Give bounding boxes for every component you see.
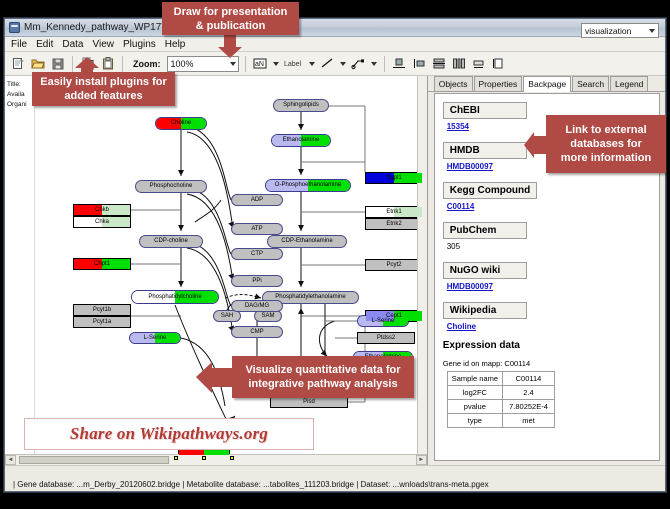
callout-line-1: Link to external — [565, 123, 646, 137]
menu-item-plugins[interactable]: Plugins — [123, 39, 156, 50]
callout-arrow-links — [524, 132, 548, 158]
status-divider — [5, 466, 665, 477]
callout-line-2: added features — [64, 89, 142, 103]
expression-data-heading: Expression data — [443, 340, 659, 351]
tab-objects[interactable]: Objects — [434, 76, 473, 91]
tab-properties[interactable]: Properties — [474, 76, 523, 91]
zoom-label: Zoom: — [133, 59, 161, 69]
visualization-value: visualization — [585, 26, 631, 36]
tab-search[interactable]: Search — [572, 76, 609, 91]
chevron-down-icon — [230, 62, 236, 66]
scroll-right-arrow[interactable]: ► — [416, 455, 427, 465]
node-label: CDP-Ethanolamine — [279, 238, 334, 244]
node-label: Chpt1 — [92, 261, 112, 267]
interaction-icon[interactable] — [350, 55, 367, 73]
callout-line-3: more information — [561, 151, 651, 165]
cell-value: met — [503, 414, 555, 428]
screenshot-root: Mm_Kennedy_pathway_WP1771_45176.gpml Fil… — [0, 0, 670, 509]
pathway-node-l-serine-left[interactable]: L-Serine — [129, 332, 181, 344]
db-value-pubchem: 305 — [447, 242, 659, 251]
svg-text:Label: Label — [284, 61, 302, 68]
interaction-dropdown[interactable] — [370, 62, 378, 66]
pathway-node-ctp[interactable]: CTP — [231, 248, 283, 260]
pathway-gene-chpt1[interactable]: Chpt1 — [73, 258, 131, 270]
db-link-kegg[interactable]: C00114 — [447, 202, 659, 211]
stack-center-icon[interactable] — [431, 55, 448, 73]
pathway-gene-pcyt2[interactable]: Pcyt2 — [365, 259, 423, 271]
table-row: type met — [447, 414, 554, 428]
datanode-icon[interactable]: aN — [252, 55, 269, 73]
callout-external-links: Link to external databases for more info… — [546, 115, 666, 173]
node-label: Sphingolipids — [281, 102, 321, 108]
align-left-icon[interactable] — [411, 55, 428, 73]
pathway-info-strip: Title: Availa Organi — [5, 76, 35, 465]
pathway-gene-sgpl1[interactable]: Sgpl1 — [365, 172, 423, 184]
db-header-hmdb: HMDB — [443, 142, 527, 159]
node-label: SAH — [219, 313, 235, 319]
db-header-wikipedia: Wikipedia — [443, 302, 527, 319]
callout-draw-for-publication: Draw for presentation & publication — [162, 2, 299, 35]
cell-key: log2FC — [447, 386, 502, 400]
node-label: Pisd — [301, 399, 317, 405]
node-label: SAM — [259, 313, 276, 319]
node-label: Chka — [93, 219, 111, 225]
node-label: DAG/MG — [243, 303, 271, 309]
callout-line-1: Visualize quantitative data for — [245, 363, 400, 377]
table-row: pvalue 7.80252E-4 — [447, 400, 554, 414]
callout-visualize-data: Visualize quantitative data for integrat… — [232, 356, 414, 398]
pathway-node-cdp-ethanolamine[interactable]: CDP-Ethanolamine — [267, 235, 347, 248]
paste-icon[interactable] — [99, 55, 116, 73]
db-link-nugo[interactable]: HMDB00097 — [447, 282, 659, 291]
cell-value: 2.4 — [503, 386, 555, 400]
db-header-pubchem: PubChem — [443, 222, 527, 239]
cell-value: C00114 — [503, 372, 555, 386]
pathway-node-o-phosphoethanolamine[interactable]: O-Phosphoethanolamine — [265, 179, 351, 192]
db-header-kegg: Kegg Compound — [443, 182, 538, 199]
pathway-node-phosphocholine[interactable]: Phosphocholine — [135, 180, 207, 193]
pathway-node-adp[interactable]: ADP — [231, 194, 283, 206]
node-label: O-Phosphoethanolamine — [273, 182, 343, 188]
menu-item-data[interactable]: Data — [62, 39, 83, 50]
node-label: Pcyt2 — [384, 262, 403, 268]
node-label: Pcyt1a — [91, 319, 113, 325]
visualization-select[interactable]: visualization — [581, 23, 659, 38]
callout-arrow-visualize — [196, 360, 234, 394]
status-bar: | Gene database: ...m_Derby_20120602.bri… — [5, 465, 665, 491]
datanode-dropdown[interactable] — [272, 62, 280, 66]
node-label: Etnk2 — [384, 221, 403, 227]
open-file-icon[interactable] — [29, 55, 46, 73]
callout-share-wikipathways: Share on Wikipathways.org — [24, 418, 314, 450]
cell-key: pvalue — [447, 400, 502, 414]
cell-value: 7.80252E-4 — [503, 400, 555, 414]
cell-key: Sample name — [447, 372, 502, 386]
menu-bar: File Edit Data View Plugins Help — [5, 37, 665, 52]
line-icon[interactable] — [319, 55, 336, 73]
node-label: Chkb — [93, 207, 111, 213]
common-height-icon[interactable] — [491, 55, 508, 73]
callout-line-2: databases for — [570, 137, 642, 151]
side-panel-tabs: Objects Properties Backpage Search Legen… — [428, 76, 665, 92]
pathway-node-sphingolipids[interactable]: Sphingolipids — [273, 99, 329, 112]
common-width-icon[interactable] — [471, 55, 488, 73]
save-file-icon[interactable] — [49, 55, 66, 73]
pathway-node-ppi[interactable]: PPi — [231, 275, 283, 287]
node-label: Pcyt1b — [91, 307, 113, 313]
distribute-icon[interactable] — [451, 55, 468, 73]
node-label: Phosphatidylethanolamine — [273, 294, 347, 300]
table-row: Sample name C00114 — [447, 372, 554, 386]
callout-line-2: & publication — [196, 19, 266, 33]
node-label: ATP — [249, 226, 264, 232]
node-label: Sgpl1 — [384, 175, 403, 181]
table-row: log2FC 2.4 — [447, 386, 554, 400]
node-label: Choline — [169, 120, 193, 126]
pathway-node-atp[interactable]: ATP — [231, 223, 283, 235]
node-label: CMP — [248, 329, 265, 335]
info-title-label: Title: — [7, 80, 32, 90]
expression-table: Sample name C00114 log2FC 2.4 pvalue 7.8… — [447, 371, 555, 428]
node-label: L-Serine — [142, 335, 169, 341]
pathway-app-icon — [9, 22, 20, 33]
db-header-chebi: ChEBI — [443, 102, 527, 119]
node-label: Etnk1 — [384, 209, 403, 215]
info-organism-label: Organi — [7, 100, 32, 110]
zoom-value: 100% — [171, 59, 194, 69]
callout-arrow-draw — [216, 33, 244, 59]
pathway-gene-etnk1[interactable]: Etnk1 — [365, 206, 423, 218]
node-label: Ethanolamine — [281, 137, 322, 143]
pathway-gene-chkb[interactable]: Chkb — [73, 204, 131, 216]
pathway-gene-pcyt1b[interactable]: Pcyt1b — [73, 304, 131, 316]
pathway-gene-ptdss2[interactable]: Ptdss2 — [357, 332, 415, 344]
info-available-label: Availa — [7, 90, 32, 100]
line-dropdown[interactable] — [339, 62, 347, 66]
pathway-canvas[interactable]: Choline Sphingolipids Ethanolamine Phosp… — [35, 76, 427, 465]
pathway-node-cmp[interactable]: CMP — [231, 326, 283, 338]
node-label: Phosphatidylcholine — [146, 294, 203, 300]
menu-item-help[interactable]: Help — [165, 39, 186, 50]
chevron-down-icon — [649, 29, 655, 33]
canvas-horizontal-scrollbar[interactable]: ◄ ► — [5, 454, 427, 465]
title-bar: Mm_Kennedy_pathway_WP1771_45176.gpml — [5, 19, 665, 37]
pathway-editor-pane: Title: Availa Organi — [5, 76, 428, 465]
pathway-gene-etnk2[interactable]: Etnk2 — [365, 218, 423, 230]
node-label: PPi — [250, 278, 263, 284]
node-label: Cept1 — [384, 313, 404, 319]
callout-line-2: integrative pathway analysis — [248, 377, 397, 391]
cell-key: type — [447, 414, 502, 428]
share-text: Share on Wikipathways.org — [70, 424, 268, 444]
node-label: ADP — [249, 197, 265, 203]
menu-item-view[interactable]: View — [92, 39, 114, 50]
db-header-nugo: NuGO wiki — [443, 262, 527, 279]
node-label: CDP-choline — [152, 238, 190, 244]
pathway-node-cdp-choline[interactable]: CDP-choline — [139, 235, 203, 248]
pathway-node-choline-top[interactable]: Choline — [155, 117, 207, 130]
callout-line-1: Easily install plugins for — [40, 75, 167, 89]
node-label: Phosphocholine — [148, 183, 195, 189]
canvas-vertical-scrollbar[interactable] — [417, 76, 427, 454]
tab-backpage[interactable]: Backpage — [523, 76, 571, 92]
pathway-gene-pcyt1a[interactable]: Pcyt1a — [73, 316, 131, 328]
new-file-icon[interactable] — [9, 55, 26, 73]
menu-item-edit[interactable]: Edit — [36, 39, 53, 50]
menu-item-file[interactable]: File — [11, 39, 27, 50]
gene-id-line: Gene id on mapp: C00114 — [443, 359, 659, 368]
node-label: CTP — [249, 251, 265, 257]
pathway-node-phosphatidylcholine[interactable]: Phosphatidylcholine — [131, 290, 219, 304]
pathway-gene-chka[interactable]: Chka — [73, 216, 131, 228]
label-dropdown[interactable] — [308, 62, 316, 66]
node-label: Ptdss2 — [375, 335, 397, 341]
pathway-node-dagmg[interactable]: DAG/MG — [231, 300, 283, 312]
label-icon[interactable]: Label — [283, 55, 305, 73]
scroll-left-arrow[interactable]: ◄ — [5, 455, 16, 465]
callout-install-plugins: Easily install plugins for added feature… — [32, 72, 175, 106]
align-bottom-icon[interactable] — [391, 55, 408, 73]
db-link-wikipedia[interactable]: Choline — [447, 322, 659, 331]
scroll-thumb[interactable] — [19, 456, 169, 464]
status-text: | Gene database: ...m_Derby_20120602.bri… — [5, 480, 489, 489]
callout-line-1: Draw for presentation — [174, 5, 288, 19]
pathway-node-ethanolamine[interactable]: Ethanolamine — [271, 134, 331, 147]
svg-text:aN: aN — [255, 61, 264, 68]
tab-legend[interactable]: Legend — [610, 76, 648, 91]
